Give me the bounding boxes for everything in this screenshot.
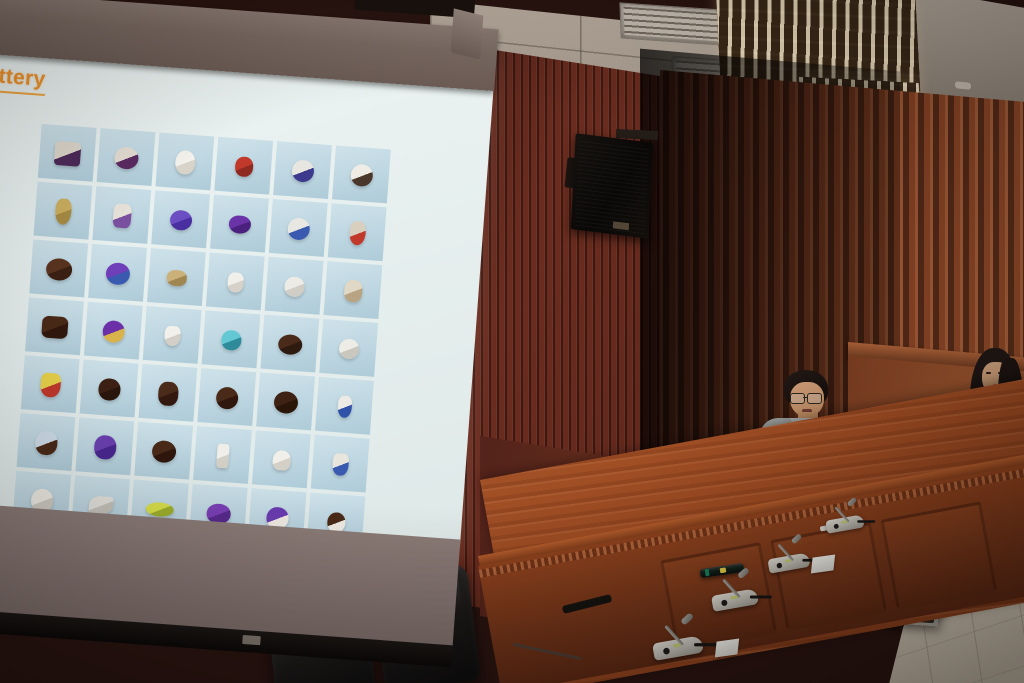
- pottery-cell-24: [319, 319, 378, 377]
- pottery-cell-30: [315, 377, 374, 435]
- mic-cable: [750, 595, 772, 598]
- pottery-cell-23: [260, 315, 319, 373]
- pottery-item-stack: [112, 203, 132, 228]
- pottery-cell-17: [265, 257, 324, 315]
- pottery-cell-20: [84, 302, 143, 360]
- pottery-item-cup: [226, 272, 243, 293]
- pottery-item-curl: [338, 338, 359, 359]
- pottery-item-cross: [41, 315, 69, 339]
- pottery-cell-27: [138, 364, 197, 422]
- speaker-grill: [575, 138, 649, 234]
- pottery-item-figure: [343, 280, 363, 303]
- pottery-item-bottle: [337, 395, 353, 418]
- pottery-cell-10: [210, 195, 269, 253]
- pottery-item-round: [105, 262, 131, 286]
- pottery-item-round: [220, 330, 241, 351]
- projection-screen-logo: [242, 635, 261, 645]
- pottery-item-round: [291, 159, 315, 183]
- mic-button[interactable]: [833, 524, 839, 530]
- pottery-cell-29: [256, 372, 315, 430]
- pottery-cell-18: [323, 261, 382, 319]
- projection-screen: Pottery: [0, 0, 518, 683]
- pottery-item-cupcake: [39, 373, 61, 398]
- pottery-cell-7: [34, 182, 93, 240]
- pottery-item-round: [277, 334, 302, 356]
- screen-valance-end-cap: [451, 8, 484, 59]
- pottery-item-tube: [216, 444, 230, 469]
- pottery-cell-11: [269, 199, 328, 257]
- pottery-item-round: [151, 440, 177, 464]
- pottery-item-round: [215, 386, 239, 410]
- laser-pointer-band: [705, 569, 710, 576]
- eyeglasses-icon: [790, 393, 823, 402]
- pottery-item-round: [101, 320, 125, 344]
- mic-button[interactable]: [776, 562, 782, 568]
- pottery-cell-28: [197, 368, 256, 426]
- pottery-cell-6: [332, 145, 391, 203]
- hvac-vent-icon: [619, 2, 722, 45]
- table-name-card-2: [811, 555, 835, 574]
- pottery-item-round: [97, 378, 121, 402]
- pottery-item-curl: [283, 276, 304, 297]
- mic-cable: [857, 520, 875, 522]
- pottery-cell-21: [143, 306, 202, 364]
- table-panel-3: [880, 501, 997, 610]
- mic-button[interactable]: [663, 647, 671, 655]
- pottery-cell-33: [134, 422, 193, 480]
- pottery-item-blob: [228, 215, 251, 235]
- pottery-item-swirl: [350, 164, 374, 188]
- pottery-cell-1: [38, 124, 97, 182]
- pottery-cell-32: [75, 417, 134, 475]
- pottery-item-dome: [272, 450, 291, 471]
- pottery-cell-15: [147, 248, 206, 306]
- pottery-cell-36: [311, 435, 370, 493]
- pottery-cell-14: [88, 244, 147, 302]
- pottery-item-round: [45, 258, 73, 282]
- pottery-cell-9: [151, 190, 210, 248]
- pottery-item-round: [93, 435, 117, 461]
- conference-room-photo: 演講: [0, 0, 1024, 683]
- mic-button[interactable]: [721, 599, 728, 606]
- pottery-cell-4: [214, 137, 273, 195]
- pottery-item-round: [234, 156, 253, 177]
- pottery-cell-16: [206, 252, 265, 310]
- pottery-cell-35: [252, 430, 311, 488]
- wall-speaker: [571, 133, 654, 238]
- pottery-cell-31: [17, 413, 76, 471]
- pottery-cell-5: [273, 141, 332, 199]
- pottery-item-egg: [174, 150, 196, 175]
- mic-led: [841, 520, 847, 523]
- pottery-cell-2: [97, 128, 156, 186]
- pottery-cell-22: [202, 310, 261, 368]
- pottery-cell-34: [193, 426, 252, 484]
- pottery-cell-25: [21, 355, 80, 413]
- laser-pointer-label: [720, 567, 727, 573]
- table-name-card-1: [715, 639, 739, 658]
- pottery-item-oval: [145, 502, 174, 518]
- pottery-cell-13: [29, 240, 88, 298]
- pottery-item-cup: [163, 325, 180, 346]
- pottery-item-cup: [331, 453, 349, 476]
- projection-screen-surface: Pottery: [0, 8, 496, 548]
- mic-led: [785, 559, 792, 563]
- pottery-item-round: [113, 146, 139, 170]
- pottery-cell-12: [328, 203, 387, 261]
- pottery-item-cube: [53, 141, 81, 167]
- pottery-cell-3: [155, 132, 214, 190]
- pottery-item-bottle: [348, 221, 366, 246]
- table-panel-2: [770, 522, 887, 631]
- pottery-item-stack: [157, 381, 179, 406]
- pottery-cell-26: [80, 360, 139, 418]
- pottery-item-swirl: [286, 217, 310, 241]
- pottery-item-round: [169, 210, 192, 232]
- pottery-item-round: [34, 430, 58, 456]
- pottery-item-round: [273, 391, 299, 415]
- pottery-cell-8: [92, 186, 151, 244]
- pottery-item-cluster: [166, 269, 187, 286]
- pottery-image-grid: [12, 124, 391, 551]
- mic-led: [673, 643, 681, 648]
- pottery-item-cone: [54, 198, 72, 225]
- slide-title: Pottery: [0, 63, 46, 92]
- mic-cable: [694, 643, 718, 646]
- mic-led: [730, 596, 737, 600]
- pottery-cell-19: [25, 297, 84, 355]
